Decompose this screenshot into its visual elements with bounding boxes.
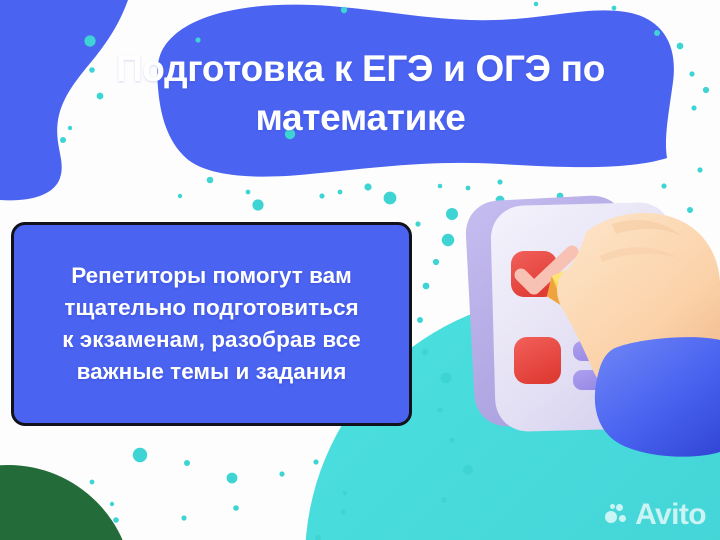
avito-watermark: Avito xyxy=(605,500,706,530)
front-card-icon xyxy=(490,202,677,433)
sleeve-icon xyxy=(595,337,720,456)
description-line-3: к экзаменам, разобрав все xyxy=(62,324,360,356)
card-text-bars-icon xyxy=(573,341,628,390)
description-line-2: тщательно подготовиться xyxy=(62,292,360,324)
description-card: Репетиторы помогут вам тщательно подгото… xyxy=(11,222,412,426)
description-text: Репетиторы помогут вам тщательно подгото… xyxy=(56,260,366,388)
title-line-1: Подготовка к ЕГЭ и ОГЭ по xyxy=(78,44,643,93)
hand-icon xyxy=(557,213,720,420)
poster-canvas: Подготовка к ЕГЭ и ОГЭ по математике Реп… xyxy=(0,0,720,540)
checkbox-unchecked-icon xyxy=(514,337,561,384)
description-line-4: важные темы и задания xyxy=(62,356,360,388)
page-title: Подготовка к ЕГЭ и ОГЭ по математике xyxy=(78,44,643,142)
back-card-icon xyxy=(464,194,636,428)
avito-wordmark: Avito xyxy=(635,500,706,530)
avito-logo-icon xyxy=(605,503,629,527)
description-line-1: Репетиторы помогут вам xyxy=(62,260,360,292)
pencil-icon xyxy=(541,249,632,312)
title-line-2: математике xyxy=(78,93,643,142)
checkbox-checked-icon xyxy=(511,251,572,297)
green-circle-decor xyxy=(0,465,133,540)
